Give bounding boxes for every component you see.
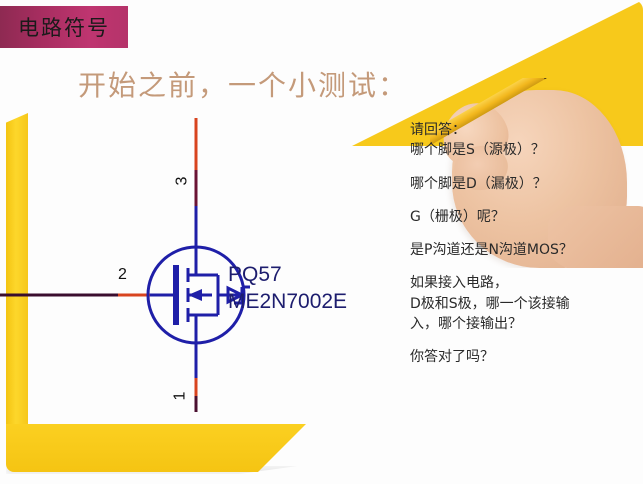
question-line: 请回答： <box>410 120 642 140</box>
question-line: D极和S极，哪一个该接输 <box>410 294 642 314</box>
pencil-ferrule <box>539 78 557 79</box>
question-line: 入，哪个接输出？ <box>410 314 642 334</box>
title-badge-label: 电路符号 <box>18 12 110 42</box>
part-number-text: ME2N7002E <box>228 289 347 316</box>
title-badge: 电路符号 <box>0 6 128 48</box>
question-item: 你答对了吗？ <box>410 347 642 367</box>
question-line: 你答对了吗？ <box>410 347 642 367</box>
question-list: 请回答： 哪个脚是S（源极）？ 哪个脚是D（漏极）？ G（栅极）呢？ 是P沟道还… <box>410 120 642 381</box>
page-title: 开始之前，一个小测试： <box>78 64 408 104</box>
question-item: 哪个脚是D（漏极）？ <box>410 174 642 194</box>
question-line: G（栅极）呢？ <box>410 207 642 227</box>
pin-number-3: 3 <box>173 177 191 186</box>
question-item: 请回答： 哪个脚是S（源极）？ <box>410 120 642 161</box>
pin-number-2: 2 <box>118 266 127 284</box>
channel-arrow-n <box>188 289 202 301</box>
part-designator-text: PQ57 <box>228 262 347 289</box>
slide-canvas: 电路符号 开始之前，一个小测试： <box>0 0 643 484</box>
yellow-bottom-bar-decoration <box>6 424 306 472</box>
question-line: 哪个脚是D（漏极）？ <box>410 174 642 194</box>
part-label-group: PQ57 ME2N7002E <box>228 262 347 316</box>
question-item: G（栅极）呢？ <box>410 207 642 227</box>
question-item: 如果接入电路， D极和S极，哪一个该接输 入，哪个接输出？ <box>410 273 642 334</box>
question-line: 是P沟道还是N沟道MOS？ <box>410 240 642 260</box>
question-item: 是P沟道还是N沟道MOS？ <box>410 240 642 260</box>
mosfet-schematic: PQ57 ME2N7002E <box>0 110 400 420</box>
question-line: 哪个脚是S（源极）？ <box>410 140 642 160</box>
question-line: 如果接入电路， <box>410 273 642 293</box>
pin-number-1: 1 <box>171 392 189 401</box>
